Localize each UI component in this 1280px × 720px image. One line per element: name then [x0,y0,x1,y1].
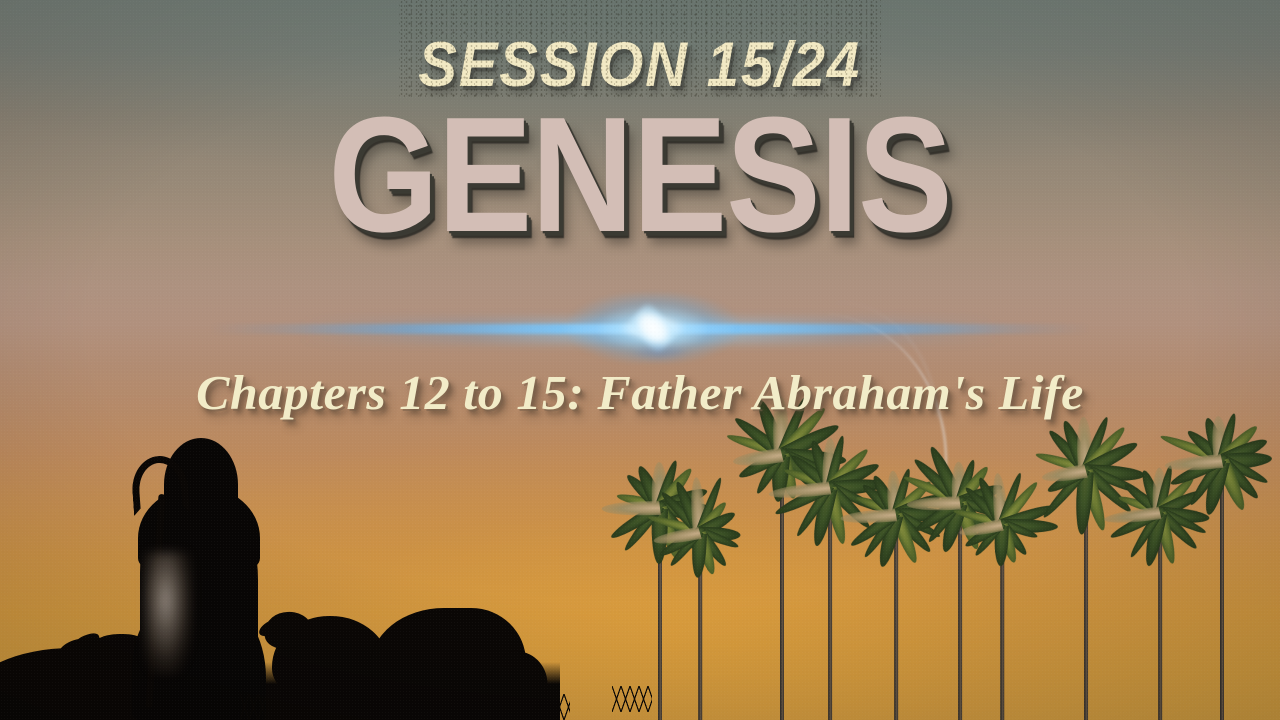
session-label: SESSION 15/24 [419,0,862,97]
session-label-wrapper: SESSION 15/24 [399,0,880,97]
subtitle: Chapters 12 to 15: Father Abraham's Life [0,368,1280,417]
page-title: GENESIS [0,93,1280,257]
title-slide: SESSION 15/24 GENESIS Chapters 12 to 15:… [0,0,1280,720]
title-block: SESSION 15/24 GENESIS [0,0,1280,232]
